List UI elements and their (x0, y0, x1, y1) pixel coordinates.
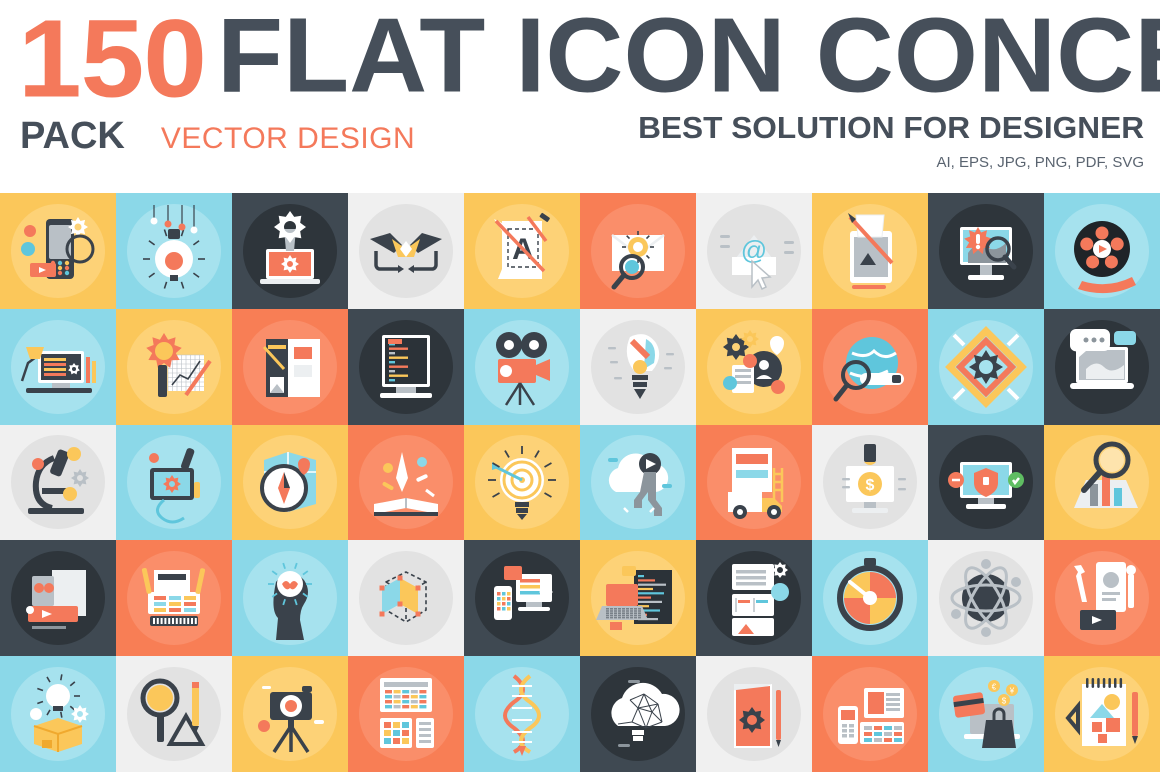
icon-tile-email-at-cursor[interactable]: @ (696, 193, 812, 309)
atom-global-network-icon (936, 548, 1036, 648)
icon-tile-lightbulb-target-idea[interactable] (464, 425, 580, 541)
icon-tile-film-reel-video[interactable] (1044, 193, 1160, 309)
icon-tile-email-search[interactable] (580, 193, 696, 309)
svg-text:$: $ (866, 477, 875, 494)
icon-tile-monitor-alert-search[interactable] (928, 193, 1044, 309)
icon-tile-social-media-network[interactable] (696, 309, 812, 425)
icon-count-number: 150 (18, 8, 206, 109)
icon-tile-cloud-wrench-service[interactable] (580, 425, 696, 541)
icon-tile-microscope-research[interactable] (0, 425, 116, 541)
email-search-icon (588, 201, 688, 301)
icon-tile-typography-letter-a[interactable]: A (464, 193, 580, 309)
icon-tile-magnifier-bar-chart[interactable] (1044, 425, 1160, 541)
head-brain-thinking-icon (240, 548, 340, 648)
open-box-startup-icon (8, 664, 108, 764)
print-press-publishing-icon (124, 548, 224, 648)
3d-wireframe-cube-icon (356, 548, 456, 648)
icon-tile-delivery-truck-logistics[interactable] (696, 425, 812, 541)
icon-tile-page-layout-design[interactable] (232, 309, 348, 425)
file-formats-label: AI, EPS, JPG, PNG, PDF, SVG (648, 154, 1144, 171)
icon-tile-movie-camera[interactable] (464, 309, 580, 425)
rocket-lightbulb-launch-icon (588, 317, 688, 417)
icon-tile-graphic-tablet-pen[interactable] (812, 193, 928, 309)
icon-tile-polygon-cloud-lightbulb[interactable] (580, 656, 696, 772)
pack-label: PACK (20, 115, 125, 158)
video-player-media-icon (8, 548, 108, 648)
magnifier-bar-chart-icon (1052, 432, 1152, 532)
svg-text:@: @ (741, 235, 767, 265)
movie-camera-icon (472, 317, 572, 417)
social-media-network-icon (704, 317, 804, 417)
icon-tile-responsive-devices[interactable] (464, 540, 580, 656)
icon-tile-multi-device-sync[interactable] (812, 656, 928, 772)
icon-tile-desktop-workspace[interactable] (0, 309, 116, 425)
typography-letter-a-icon: A (472, 201, 572, 301)
icon-tile-code-editor-monitor[interactable] (348, 309, 464, 425)
gear-diamond-settings-icon (936, 317, 1036, 417)
tagline-label: VECTOR DESIGN (161, 122, 415, 156)
icon-tile-global-search-seo[interactable] (812, 309, 928, 425)
icon-tile-pie-chart-clock[interactable] (812, 540, 928, 656)
cloud-wrench-service-icon (588, 432, 688, 532)
icon-tile-open-book-knowledge[interactable] (348, 425, 464, 541)
icon-tile-open-box-startup[interactable] (0, 656, 116, 772)
svg-text:¥: ¥ (1009, 687, 1015, 696)
main-title-row: 150 FLAT ICON CONCEPTS (18, 8, 1160, 107)
poster-header: 150 FLAT ICON CONCEPTS PACK VECTOR DESIG… (0, 0, 1160, 193)
compass-map-navigation-icon (240, 432, 340, 532)
ui-design-layout-icon (704, 548, 804, 648)
desktop-workspace-icon (8, 317, 108, 417)
responsive-devices-icon (472, 548, 572, 648)
icon-tile-camera-tripod-photography[interactable] (232, 656, 348, 772)
monitor-alert-search-icon (936, 201, 1036, 301)
icon-tile-gear-diamond-settings[interactable] (928, 309, 1044, 425)
headline-right: BEST SOLUTION FOR DESIGNER (638, 112, 1144, 145)
icon-tile-rocket-lightbulb-launch[interactable] (580, 309, 696, 425)
page-layout-design-icon (240, 317, 340, 417)
icon-tile-laptop-coding-cpu[interactable] (580, 540, 696, 656)
icon-tile-print-press-publishing[interactable] (116, 540, 232, 656)
icon-tile-laptop-chat-world[interactable] (1044, 309, 1160, 425)
laptop-chat-world-icon (1052, 317, 1152, 417)
icon-tile-video-player-media[interactable] (0, 540, 116, 656)
monitor-coin-payment-icon: $ (820, 432, 920, 532)
lightbulb-target-idea-icon (472, 432, 572, 532)
icon-tile-ecommerce-card-bag[interactable]: €$¥ (928, 656, 1044, 772)
shield-security-monitor-icon (936, 432, 1036, 532)
icon-tile-shield-security-monitor[interactable] (928, 425, 1044, 541)
icon-tile-mobile-app-development[interactable] (0, 193, 116, 309)
email-at-cursor-icon: @ (704, 201, 804, 301)
svg-text:$: $ (1002, 697, 1007, 706)
poster-canvas: 150 FLAT ICON CONCEPTS PACK VECTOR DESIG… (0, 0, 1160, 772)
mobile-tools-repair-icon (1052, 548, 1152, 648)
magnifier-analytics-icon (124, 317, 224, 417)
film-reel-video-icon (1052, 201, 1152, 301)
icon-grid: A@$€$¥ (0, 193, 1160, 772)
graphic-tablet-pen-icon (820, 201, 920, 301)
icon-tile-head-brain-thinking[interactable] (232, 540, 348, 656)
idea-lightbulb-icon (124, 201, 224, 301)
icon-tile-notepad-sketch-design[interactable] (1044, 656, 1160, 772)
page-title: FLAT ICON CONCEPTS (217, 8, 1160, 106)
icon-tile-dna-helix-science[interactable] (464, 656, 580, 772)
icon-tile-tablet-stylus-drawing[interactable] (116, 425, 232, 541)
pie-chart-clock-icon (820, 548, 920, 648)
laptop-coding-cpu-icon (588, 548, 688, 648)
notepad-sketch-design-icon (1052, 664, 1152, 764)
global-search-seo-icon (820, 317, 920, 417)
data-dashboard-server-icon (356, 664, 456, 764)
icon-tile-handshake-deal[interactable] (348, 193, 464, 309)
mobile-app-development-icon (8, 201, 108, 301)
code-editor-monitor-icon (356, 317, 456, 417)
subtitle-row: PACK VECTOR DESIGN (20, 115, 415, 158)
icon-tile-ui-design-layout[interactable] (696, 540, 812, 656)
header-right-block: BEST SOLUTION FOR DESIGNER AI, EPS, JPG,… (648, 112, 1144, 171)
folder-gear-settings-icon (704, 664, 804, 764)
magnifier-ruler-pencil-icon (124, 664, 224, 764)
microscope-research-icon (8, 432, 108, 532)
icon-tile-data-dashboard-server[interactable] (348, 656, 464, 772)
laptop-settings-gear-icon (240, 201, 340, 301)
delivery-truck-logistics-icon (704, 432, 804, 532)
icon-tile-mobile-tools-repair[interactable] (1044, 540, 1160, 656)
icon-tile-idea-lightbulb[interactable] (116, 193, 232, 309)
icon-tile-laptop-settings-gear[interactable] (232, 193, 348, 309)
polygon-cloud-lightbulb-icon (588, 664, 688, 764)
icon-tile-monitor-coin-payment[interactable]: $ (812, 425, 928, 541)
icon-tile-magnifier-analytics[interactable] (116, 309, 232, 425)
multi-device-sync-icon (820, 664, 920, 764)
dna-helix-science-icon (472, 664, 572, 764)
icon-tile-folder-gear-settings[interactable] (696, 656, 812, 772)
icon-tile-3d-wireframe-cube[interactable] (348, 540, 464, 656)
icon-tile-atom-global-network[interactable] (928, 540, 1044, 656)
icon-tile-magnifier-ruler-pencil[interactable] (116, 656, 232, 772)
handshake-deal-icon (356, 201, 456, 301)
camera-tripod-photography-icon (240, 664, 340, 764)
open-book-knowledge-icon (356, 432, 456, 532)
tablet-stylus-drawing-icon (124, 432, 224, 532)
svg-text:€: € (992, 683, 997, 692)
icon-tile-compass-map-navigation[interactable] (232, 425, 348, 541)
ecommerce-card-bag-icon: €$¥ (936, 664, 1036, 764)
